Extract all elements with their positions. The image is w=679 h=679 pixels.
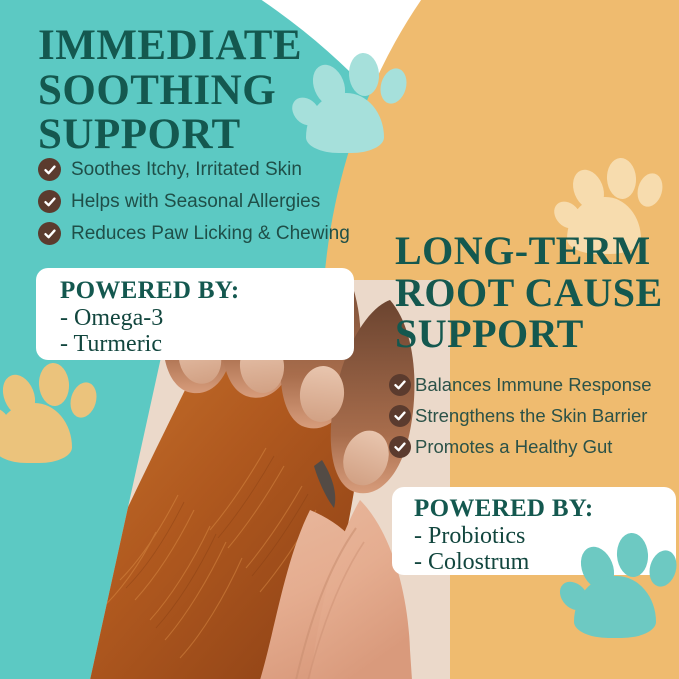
paw-print-icon [560, 518, 678, 638]
benefit-label: Helps with Seasonal Allergies [71, 191, 320, 213]
list-item: Balances Immune Response [389, 374, 652, 396]
list-item: Strengthens the Skin Barrier [389, 405, 652, 427]
heading-line: SUPPORT [395, 313, 675, 355]
card-ingredient: - Omega-3 [60, 305, 354, 332]
card-ingredient: - Turmeric [60, 331, 354, 358]
heading-line: SUPPORT [38, 113, 328, 158]
list-item: Reduces Paw Licking & Chewing [38, 222, 350, 245]
card-title: POWERED BY: [60, 277, 354, 305]
heading-line: IMMEDIATE [38, 24, 328, 69]
benefit-label: Reduces Paw Licking & Chewing [71, 223, 350, 245]
check-circle-icon [389, 374, 411, 396]
product-benefits-infographic: IMMEDIATE SOOTHING SUPPORT Soothes Itchy… [0, 0, 679, 679]
list-item: Promotes a Healthy Gut [389, 436, 652, 458]
right-benefit-list: Balances Immune Response Strengthens the… [389, 374, 652, 467]
heading-line: ROOT CAUSE [395, 272, 675, 314]
heading-line: LONG-TERM [395, 230, 675, 272]
left-panel-heading: IMMEDIATE SOOTHING SUPPORT [38, 24, 328, 158]
right-panel-heading: LONG-TERM ROOT CAUSE SUPPORT [395, 230, 675, 355]
benefit-label: Promotes a Healthy Gut [415, 436, 612, 458]
check-circle-icon [389, 436, 411, 458]
check-circle-icon [38, 222, 61, 245]
benefit-label: Balances Immune Response [415, 374, 652, 396]
check-circle-icon [38, 190, 61, 213]
list-item: Soothes Itchy, Irritated Skin [38, 158, 350, 181]
left-powered-by-card: POWERED BY: - Omega-3 - Turmeric [36, 268, 354, 360]
heading-line: SOOTHING [38, 69, 328, 114]
check-circle-icon [38, 158, 61, 181]
left-benefit-list: Soothes Itchy, Irritated Skin Helps with… [38, 158, 350, 254]
list-item: Helps with Seasonal Allergies [38, 190, 350, 213]
benefit-label: Strengthens the Skin Barrier [415, 405, 647, 427]
benefit-label: Soothes Itchy, Irritated Skin [71, 159, 302, 181]
check-circle-icon [389, 405, 411, 427]
